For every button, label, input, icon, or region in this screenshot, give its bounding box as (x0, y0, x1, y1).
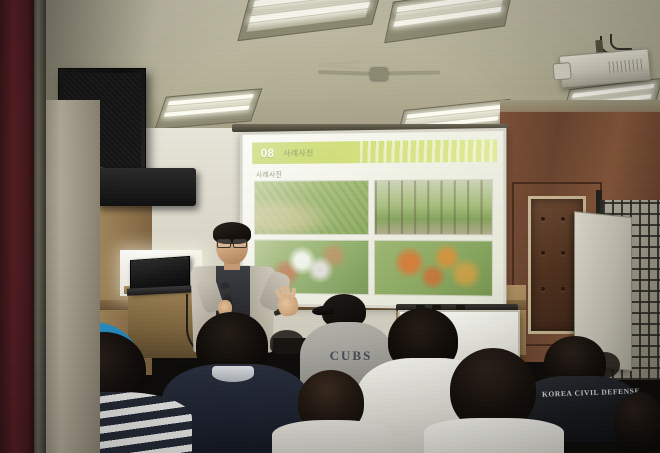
left-wall-pillar (0, 0, 34, 453)
slide-photo-caption: 덩굴식물 (471, 179, 490, 180)
audience-back-row-head (270, 330, 304, 354)
finger (286, 286, 291, 296)
projector-lens (552, 62, 571, 81)
slide-subtitle: 사례사진 (256, 170, 282, 180)
glasses-icon (217, 239, 247, 246)
audience-ponytail (272, 420, 392, 453)
microphone-head (220, 281, 230, 290)
glasses-lens (217, 239, 231, 248)
audience-long-hair (424, 418, 564, 453)
cubs-shirt-text: CUBS (316, 348, 386, 364)
slide-photo: 덩굴식물 (373, 179, 492, 235)
door-stud (561, 217, 565, 221)
header-stripe-pattern (360, 139, 497, 163)
audience-far-right-head (614, 392, 660, 453)
fan-blade (318, 70, 374, 76)
door-stud (541, 287, 545, 291)
slide-photo-caption: 초화류 (476, 240, 490, 241)
door-stud (561, 251, 565, 255)
projector-vents (608, 59, 643, 74)
glasses-bridge (229, 242, 235, 243)
slide-header: 08 사례사진 (252, 139, 497, 164)
slide-header-title: 사례사진 (283, 147, 314, 158)
secondary-speaker (96, 168, 196, 206)
door-stud (561, 287, 565, 291)
slide-photo-caption: 담쟁이덩굴 (343, 180, 366, 181)
slide-section-number: 08 (261, 146, 275, 160)
fan-hub (370, 67, 388, 80)
lecture-room-photo: 08 사례사진 사례사진 담쟁이덩굴 덩굴식물 초화류 초화류 (0, 0, 660, 453)
door-stud (541, 217, 545, 221)
glasses-lens (233, 239, 247, 248)
projector-cable (610, 34, 632, 50)
fan-blade (384, 71, 440, 76)
ceiling-fan (318, 62, 440, 84)
slide-photo-caption: 초화류 (352, 240, 366, 241)
polo-collar (212, 366, 254, 382)
door-stud (541, 251, 545, 255)
finger (291, 287, 296, 297)
slide-photo: 초화류 (373, 240, 492, 297)
left-wall-panel (44, 100, 100, 453)
